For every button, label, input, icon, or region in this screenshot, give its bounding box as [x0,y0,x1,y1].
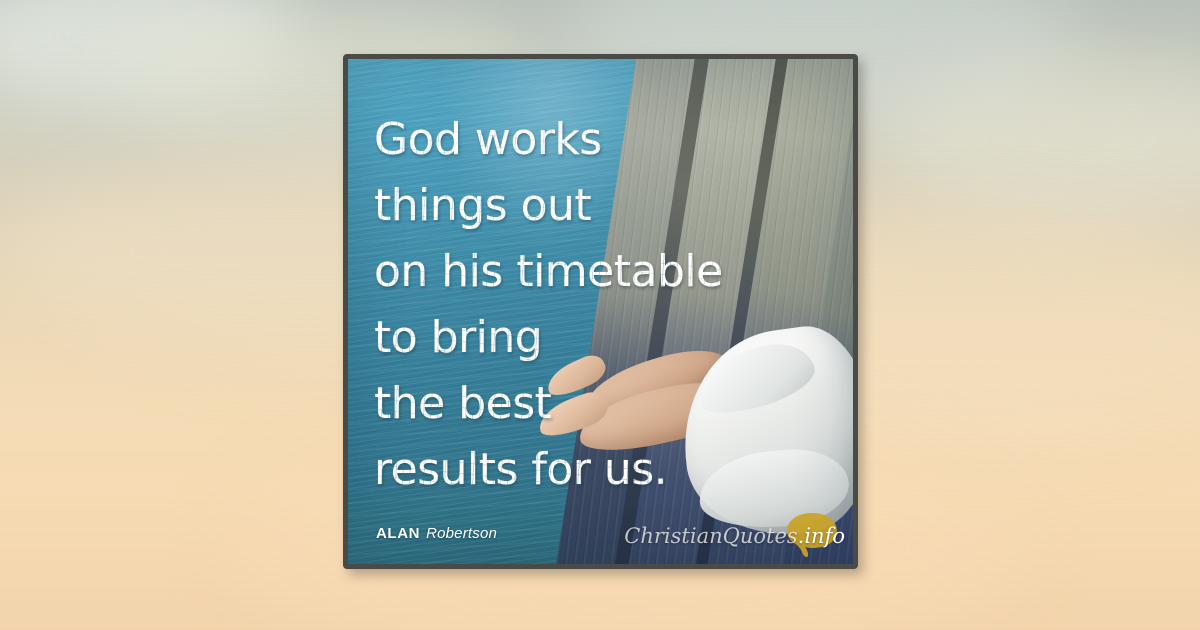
watermark[interactable]: ChristianQuotes.info [624,524,845,548]
author-last-name: Robertson [426,525,497,542]
quote-card: God works things out on his timetable to… [343,54,858,569]
page-background: God works things out on his timetable to… [0,0,1200,630]
quote-line-2: things out [374,173,794,239]
quote-text: God works things out on his timetable to… [374,107,794,503]
quote-line-3: on his timetable [374,239,794,305]
watermark-text: ChristianQuotes [624,524,797,548]
author-first-name: ALAN [376,525,420,542]
cloud-blob [0,0,300,110]
quote-line-6: results for us. [374,437,794,503]
quote-line-4: to bring [374,305,794,371]
quote-line-1: God works [374,107,794,173]
quote-line-5: the best [374,371,794,437]
cloud-blob [880,60,1200,220]
watermark-suffix: .info [798,524,845,548]
attribution: ALANRobertson [376,525,497,542]
photo-image: God works things out on his timetable to… [348,59,853,564]
